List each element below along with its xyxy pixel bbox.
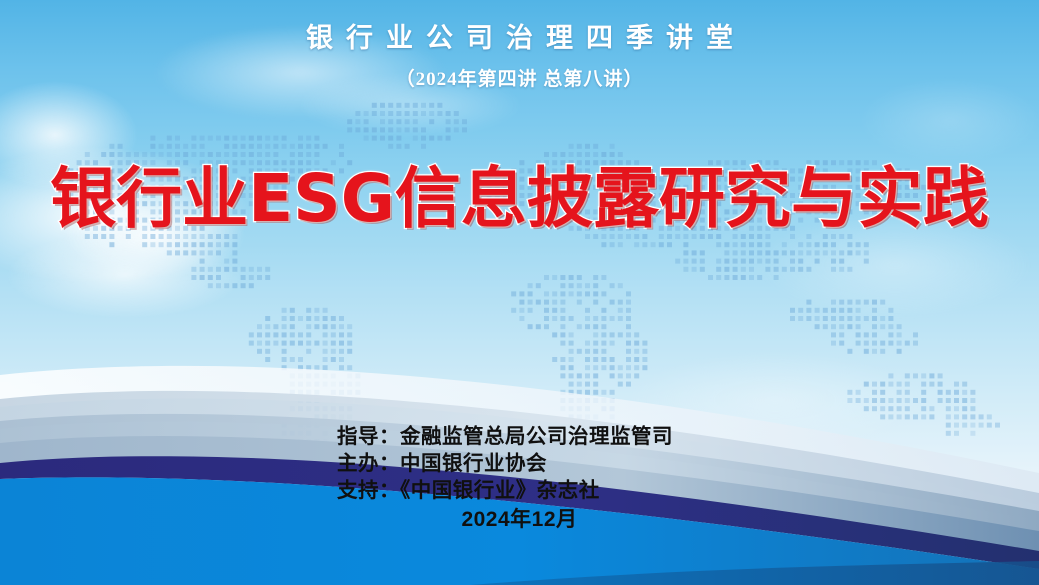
credit-line-guidance: 指导：金融监管总局公司治理监管司 xyxy=(337,423,673,450)
header-block: 银行业公司治理四季讲堂 （2024年第四讲 总第八讲） xyxy=(0,22,1039,91)
credit-line-organizer: 主办：中国银行业协会 xyxy=(337,450,673,477)
credit-line-support: 支持：《中国银行业》杂志社 xyxy=(337,477,673,504)
session-label: （2024年第四讲 总第八讲） xyxy=(0,64,1039,91)
series-title: 银行业公司治理四季讲堂 xyxy=(0,22,1039,56)
presentation-slide: 银行业公司治理四季讲堂 （2024年第四讲 总第八讲） 银行业ESG信息披露研究… xyxy=(0,0,1039,585)
date-label: 2024年12月 xyxy=(0,503,1039,533)
credits-block: 指导：金融监管总局公司治理监管司 主办：中国银行业协会 支持：《中国银行业》杂志… xyxy=(337,423,673,504)
page-title: 银行业ESG信息披露研究与实践 xyxy=(0,166,1039,232)
